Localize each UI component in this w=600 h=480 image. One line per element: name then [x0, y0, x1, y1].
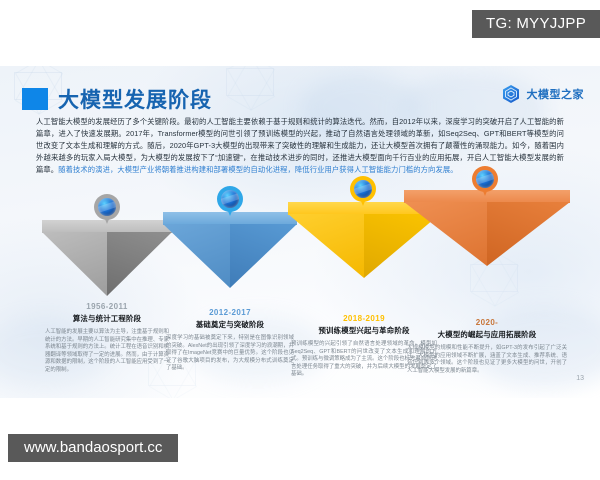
stage-column-2[interactable]: 2012-2017 基础奠定与突破阶段 深度学习的基础被奠定下来，特别是在图像识…	[163, 206, 297, 373]
hexagon-layers-icon	[501, 84, 521, 104]
stage-name-1: 算法与统计工程阶段	[42, 313, 172, 324]
intro-paragraph-highlight: 随着技术的演进，大模型产业将朝着推进构建和部署模型的自动化进程，降低行业用户获得…	[58, 165, 457, 174]
pyramid-shape-1	[42, 220, 172, 294]
stage-pin-4	[472, 166, 498, 198]
globe-icon	[98, 198, 116, 216]
stage-pin-2	[217, 186, 243, 218]
stage-caption-2: 2012-2017 基础奠定与突破阶段 深度学习的基础被奠定下来，特别是在图像识…	[163, 308, 297, 373]
globe-icon	[476, 170, 494, 188]
page-number: 13	[576, 375, 584, 382]
stage-column-4[interactable]: 2020- 大模型的崛起与应用拓展阶段 大规模模型的规模和性能不断提升，如GPT…	[404, 206, 570, 375]
brand-name: 大模型之家	[527, 86, 585, 102]
stage-funnel-group: 1956-2011 算法与统计工程阶段 人工智能的发展主要以算法为主导，注重基于…	[0, 206, 600, 396]
brand-logo: 大模型之家	[501, 84, 585, 104]
telegram-tag-overlay: TG: MYYJJPP	[472, 10, 600, 38]
funnel-2	[163, 206, 297, 298]
funnel-4	[404, 206, 570, 298]
bottom-white-band: www.bandaosport.cc	[0, 398, 600, 480]
stage-desc-1: 人工智能的发展主要以算法为主导，注重基于规则和统计的方法。早期的人工智能研究集中…	[42, 329, 172, 375]
stage-column-1[interactable]: 1956-2011 算法与统计工程阶段 人工智能的发展主要以算法为主导，注重基于…	[42, 206, 172, 375]
page-title: 大模型发展阶段	[58, 84, 212, 114]
stage-name-2: 基础奠定与突破阶段	[163, 319, 297, 330]
slide-title-row: 大模型发展阶段	[22, 84, 212, 114]
title-accent-mark	[22, 88, 48, 110]
stage-caption-4: 2020- 大模型的崛起与应用拓展阶段 大规模模型的规模和性能不断提升，如GPT…	[404, 318, 570, 375]
stage-year-4: 2020-	[404, 318, 570, 327]
stage-name-4: 大模型的崛起与应用拓展阶段	[404, 329, 570, 340]
stage-desc-4: 大规模模型的规模和性能不断提升，如GPT-3的发布引起了广泛关注。大模型的应用领…	[404, 345, 570, 375]
watermark-url: www.bandaosport.cc	[8, 434, 178, 462]
funnel-1	[42, 206, 172, 298]
globe-icon	[221, 190, 239, 208]
stage-year-1: 1956-2011	[42, 302, 172, 311]
globe-icon	[354, 180, 372, 198]
stage-pin-1	[94, 194, 120, 226]
stage-desc-2: 深度学习的基础被奠定下来，特别是在图像识别领域的突破。AlexNet的出现引领了…	[163, 335, 297, 373]
pyramid-shape-2	[163, 212, 297, 292]
stage-pin-3	[350, 176, 376, 208]
stage-year-2: 2012-2017	[163, 308, 297, 317]
stage-caption-1: 1956-2011 算法与统计工程阶段 人工智能的发展主要以算法为主导，注重基于…	[42, 302, 172, 375]
top-white-band: TG: MYYJJPP	[0, 0, 600, 66]
slide-canvas: 大模型发展阶段 大模型之家 人工智能大模型的发展经历了多个关键阶段。最初的人工智…	[0, 66, 600, 398]
pyramid-shape-4	[404, 190, 570, 282]
